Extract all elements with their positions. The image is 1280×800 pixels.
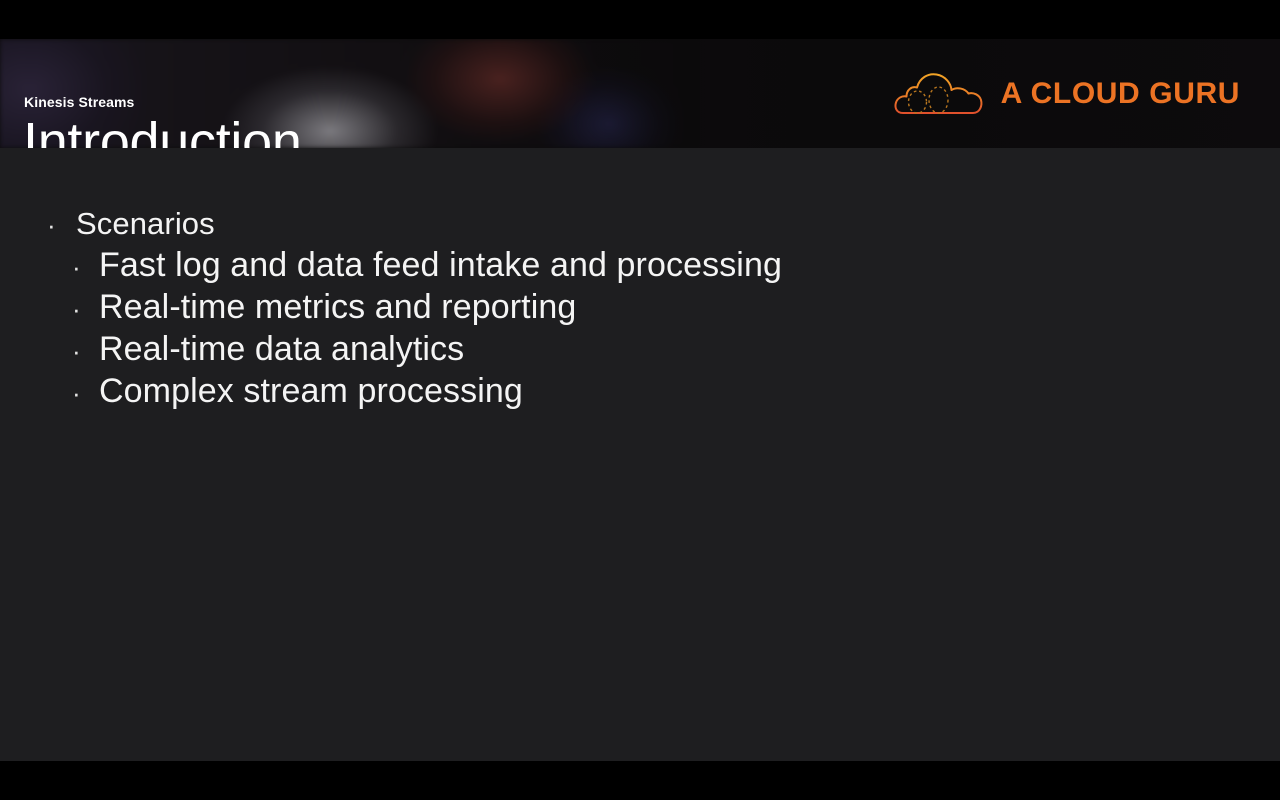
bullet-text: Scenarios: [76, 206, 215, 242]
bullet-text: Fast log and data feed intake and proces…: [99, 246, 782, 285]
letterbox-top: [0, 0, 1280, 39]
slide-body: · Scenarios · Fast log and data feed int…: [0, 148, 1280, 761]
bullet-dot-icon: ·: [72, 380, 99, 406]
cloud-outline-icon: [893, 69, 985, 119]
letterbox-bottom: [0, 761, 1280, 800]
slide-header: Kinesis Streams Introduction: [0, 39, 1280, 148]
bullet-item: · Scenarios: [47, 206, 215, 242]
bullet-dot-icon: ·: [72, 338, 99, 364]
bullet-dot-icon: ·: [47, 212, 76, 238]
bullet-dot-icon: ·: [72, 296, 99, 322]
page-title: Introduction: [23, 115, 302, 148]
slide-canvas: Kinesis Streams Introduction: [0, 39, 1280, 761]
bullet-item: · Real-time metrics and reporting: [72, 288, 576, 327]
bullet-text: Real-time metrics and reporting: [99, 288, 576, 327]
bullet-text: Complex stream processing: [99, 372, 523, 411]
bullet-item: · Real-time data analytics: [72, 330, 464, 369]
bullet-dot-icon: ·: [72, 254, 99, 280]
bullet-item: · Complex stream processing: [72, 372, 523, 411]
presentation-slide: Kinesis Streams Introduction: [0, 0, 1280, 800]
bullet-text: Real-time data analytics: [99, 330, 464, 369]
slide-eyebrow: Kinesis Streams: [24, 94, 134, 110]
bullet-item: · Fast log and data feed intake and proc…: [72, 246, 782, 285]
brand-logo: A CLOUD GURU: [893, 67, 1240, 121]
brand-wordmark: A CLOUD GURU: [1001, 79, 1240, 109]
